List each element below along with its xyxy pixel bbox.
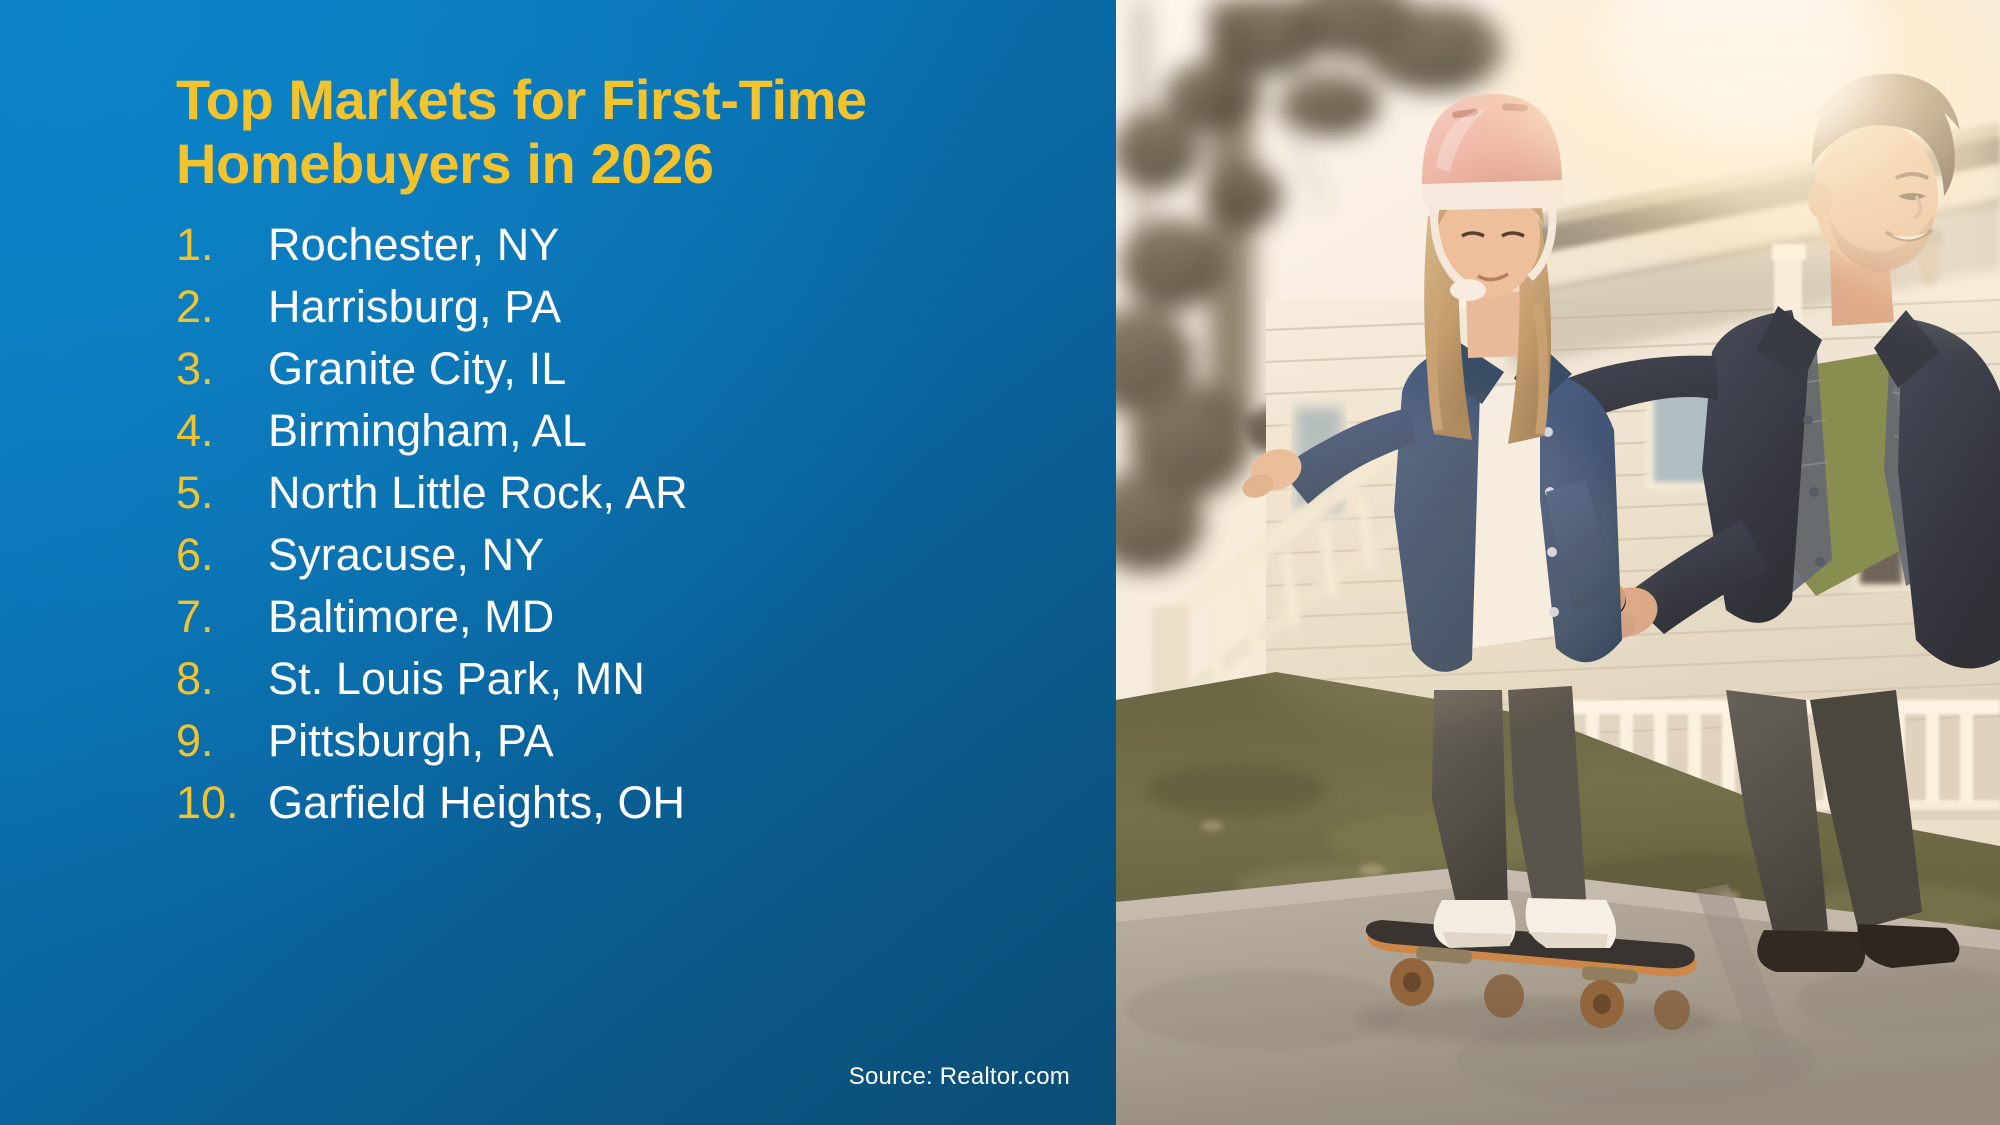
list-item-number: 4. — [176, 408, 268, 453]
list-item-city: Baltimore, MD — [268, 594, 554, 639]
list-item: 3. Granite City, IL — [176, 346, 1076, 391]
source-attribution: Source: Realtor.com — [849, 1063, 1070, 1091]
list-item-city: Granite City, IL — [268, 346, 566, 391]
list-item-city: St. Louis Park, MN — [268, 656, 645, 701]
girl-neck — [1466, 292, 1526, 358]
helmet-buckle — [1450, 279, 1486, 301]
list-item-number: 6. — [176, 532, 268, 577]
hero-photo-illustration: Father helping a young girl in a pink he… — [1116, 0, 2000, 1125]
list-item: 9. Pittsburgh, PA — [176, 718, 1076, 763]
list-item-city: North Little Rock, AR — [268, 470, 688, 515]
list-item-number: 8. — [176, 656, 268, 701]
list-item-number: 9. — [176, 718, 268, 763]
list-item: 8. St. Louis Park, MN — [176, 656, 1076, 701]
page-title: Top Markets for First-Time Homebuyers in… — [176, 68, 936, 196]
list-item-number: 2. — [176, 284, 268, 329]
list-item-city: Harrisburg, PA — [268, 284, 561, 329]
list-item-number: 3. — [176, 346, 268, 391]
list-item: 1. Rochester, NY — [176, 222, 1076, 267]
list-item-city: Pittsburgh, PA — [268, 718, 554, 763]
hero-photo: Father helping a young girl in a pink he… — [1116, 0, 2000, 1125]
list-item: 6. Syracuse, NY — [176, 532, 1076, 577]
man-shoe — [1757, 930, 1865, 972]
list-item-city: Syracuse, NY — [268, 532, 544, 577]
list-item-number: 1. — [176, 222, 268, 267]
info-panel: Top Markets for First-Time Homebuyers in… — [0, 0, 1116, 1125]
list-item: 2. Harrisburg, PA — [176, 284, 1076, 329]
list-item: 4. Birmingham, AL — [176, 408, 1076, 453]
list-item: 7. Baltimore, MD — [176, 594, 1076, 639]
list-item-number: 7. — [176, 594, 268, 639]
slide-root: Top Markets for First-Time Homebuyers in… — [0, 0, 2000, 1125]
markets-list: 1. Rochester, NY 2. Harrisburg, PA 3. Gr… — [176, 222, 1076, 825]
list-item-city: Rochester, NY — [268, 222, 559, 267]
list-item-city: Birmingham, AL — [268, 408, 587, 453]
list-item-number: 10. — [176, 780, 268, 825]
list-item-city: Garfield Heights, OH — [268, 780, 685, 825]
panel-content: Top Markets for First-Time Homebuyers in… — [176, 68, 1076, 842]
list-item: 5. North Little Rock, AR — [176, 470, 1076, 515]
list-item-number: 5. — [176, 470, 268, 515]
list-item: 10. Garfield Heights, OH — [176, 780, 1076, 825]
